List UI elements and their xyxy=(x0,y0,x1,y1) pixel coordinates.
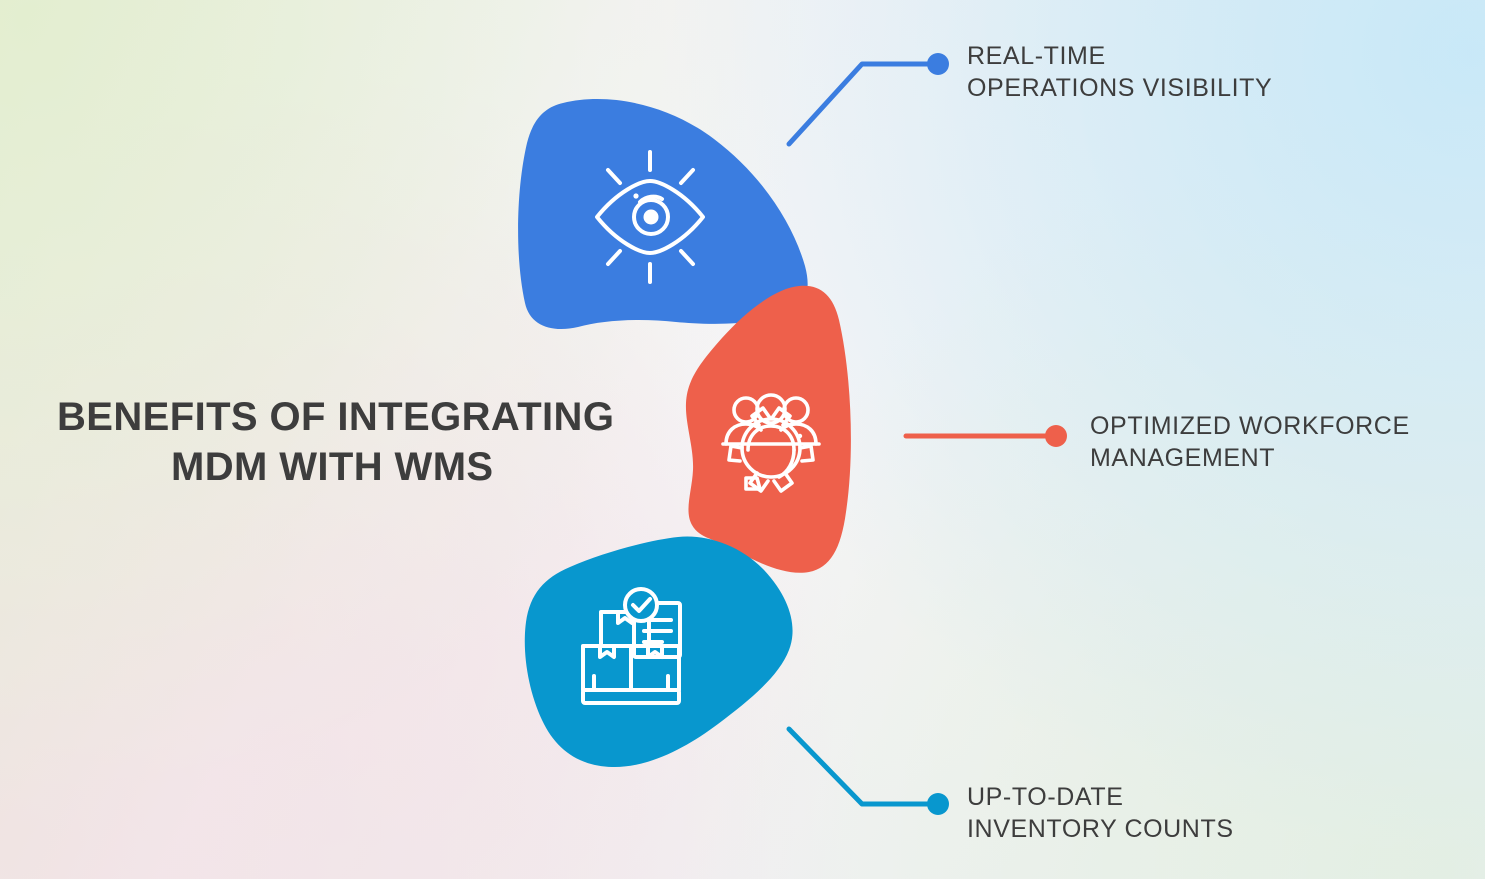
connector-inventory xyxy=(789,729,949,815)
benefit-shape-inventory[interactable] xyxy=(525,537,793,768)
connector-workforce xyxy=(906,425,1067,447)
benefit-label-workforce-line-2: MANAGEMENT xyxy=(1090,442,1410,474)
benefit-label-visibility: REAL-TIME OPERATIONS VISIBILITY xyxy=(967,40,1272,104)
blob-workforce xyxy=(686,286,851,573)
blob-inventory xyxy=(525,537,793,768)
benefit-label-visibility-line-1: REAL-TIME xyxy=(967,40,1272,72)
blob-visibility xyxy=(518,99,808,329)
connector-line-inventory xyxy=(789,729,930,804)
benefit-label-visibility-line-2: OPERATIONS VISIBILITY xyxy=(967,72,1272,104)
benefit-label-inventory: UP-TO-DATE INVENTORY COUNTS xyxy=(967,781,1234,845)
infographic-canvas: BENEFITS OF INTEGRATING MDM WITH WMS xyxy=(0,0,1485,879)
connector-dot-workforce xyxy=(1045,425,1067,447)
benefit-label-workforce-line-1: OPTIMIZED WORKFORCE xyxy=(1090,410,1410,442)
benefit-label-inventory-line-2: INVENTORY COUNTS xyxy=(967,813,1234,845)
connector-dot-visibility xyxy=(927,53,949,75)
benefit-shape-visibility[interactable] xyxy=(518,99,808,329)
benefit-label-inventory-line-1: UP-TO-DATE xyxy=(967,781,1234,813)
connector-dot-inventory xyxy=(927,793,949,815)
benefit-label-workforce: OPTIMIZED WORKFORCE MANAGEMENT xyxy=(1090,410,1410,474)
connector-visibility xyxy=(789,53,949,144)
connector-line-visibility xyxy=(789,64,930,144)
benefit-shape-workforce[interactable] xyxy=(686,286,851,573)
